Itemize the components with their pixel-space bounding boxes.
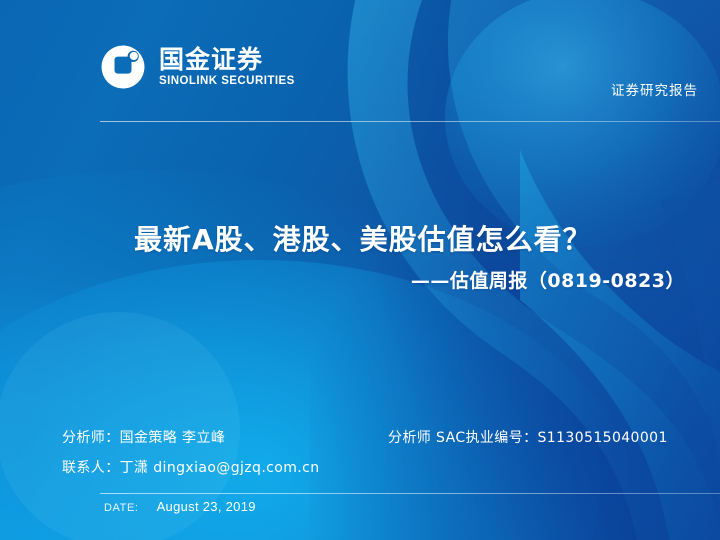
- brand-logo-text: 国金证券 SINOLINK SECURITIES: [159, 47, 295, 88]
- date-row: DATE: August 23, 2019: [104, 499, 256, 514]
- sinolink-circle-mark-icon: [100, 44, 146, 90]
- analyst-name-line: 分析师：国金策略 李立峰: [62, 427, 225, 447]
- background-shade-bottom-right: [310, 260, 720, 540]
- date-value: August 23, 2019: [157, 499, 256, 514]
- header-divider: [100, 121, 720, 122]
- page-subtitle: ——估值周报（0819-0823）: [411, 266, 685, 293]
- report-cover-slide: 国金证券 SINOLINK SECURITIES 证券研究报告 最新A股、港股、…: [0, 0, 720, 540]
- footer-divider: [100, 493, 720, 494]
- brand-name-en: SINOLINK SECURITIES: [159, 76, 295, 88]
- brand-name-cn: 国金证券: [159, 47, 295, 73]
- report-type-label: 证券研究报告: [611, 79, 698, 99]
- page-title: 最新A股、港股、美股估值怎么看？: [134, 218, 592, 258]
- date-label: DATE:: [104, 502, 139, 514]
- analyst-sac-number: 分析师 SAC执业编号：S1130515040001: [388, 427, 668, 447]
- analyst-contact-line: 联系人：丁潇 dingxiao@gjzq.com.cn: [62, 457, 320, 477]
- brand-logo: 国金证券 SINOLINK SECURITIES: [100, 44, 295, 90]
